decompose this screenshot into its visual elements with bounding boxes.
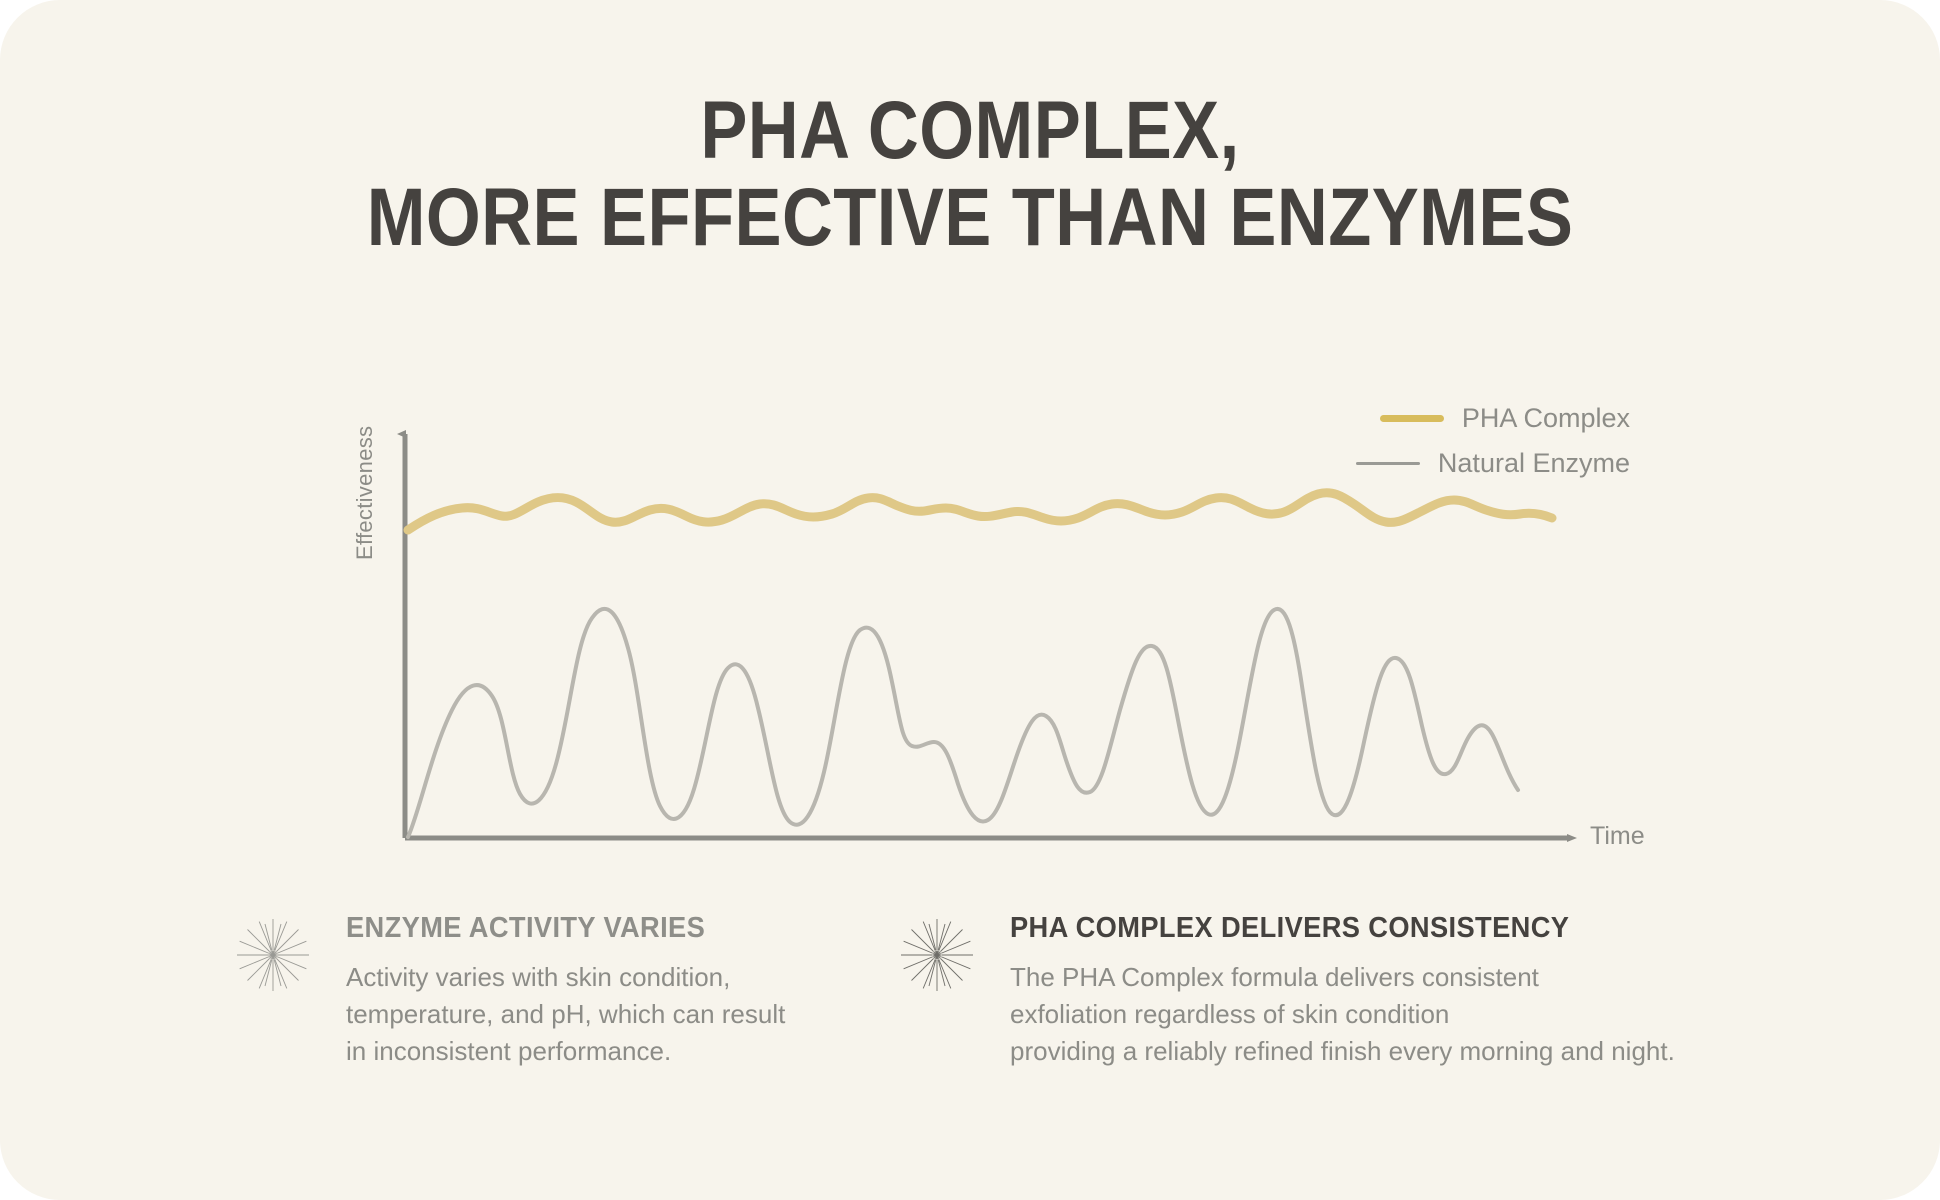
y-axis-label: Effectiveness <box>352 340 378 560</box>
info-block-enzyme: ENZYME ACTIVITY VARIES Activity varies w… <box>236 912 836 1070</box>
legend-label-natural-enzyme: Natural Enzyme <box>1438 448 1630 479</box>
info-heading-enzyme: ENZYME ACTIVITY VARIES <box>346 912 807 945</box>
x-axis-label: Time <box>1590 822 1645 851</box>
page-title: PHA COMPLEX, MORE EFFECTIVE THAN ENZYMES <box>0 88 1940 262</box>
legend-swatch-pha-complex <box>1380 415 1444 422</box>
info-heading-pha: PHA COMPLEX DELIVERS CONSISTENCY <box>1010 912 1659 945</box>
legend-item-pha-complex[interactable]: PHA Complex <box>1290 396 1630 441</box>
title-line-1: PHA COMPLEX, <box>136 88 1804 175</box>
legend-swatch-natural-enzyme <box>1356 462 1420 465</box>
series-pha-complex <box>408 493 1552 530</box>
chart-legend: PHA Complex Natural Enzyme <box>1290 396 1630 486</box>
starburst-icon <box>900 918 974 992</box>
infographic-card: PHA COMPLEX, MORE EFFECTIVE THAN ENZYMES <box>0 0 1940 1200</box>
series-natural-enzyme <box>408 609 1518 837</box>
info-block-pha: PHA COMPLEX DELIVERS CONSISTENCY The PHA… <box>900 912 1700 1070</box>
legend-item-natural-enzyme[interactable]: Natural Enzyme <box>1290 441 1630 486</box>
info-body-pha: The PHA Complex formula delivers consist… <box>1010 959 1700 1070</box>
legend-label-pha-complex: PHA Complex <box>1462 403 1630 434</box>
title-line-2: MORE EFFECTIVE THAN ENZYMES <box>136 175 1804 262</box>
info-body-enzyme: Activity varies with skin condition, tem… <box>346 959 836 1070</box>
starburst-icon <box>236 918 310 992</box>
